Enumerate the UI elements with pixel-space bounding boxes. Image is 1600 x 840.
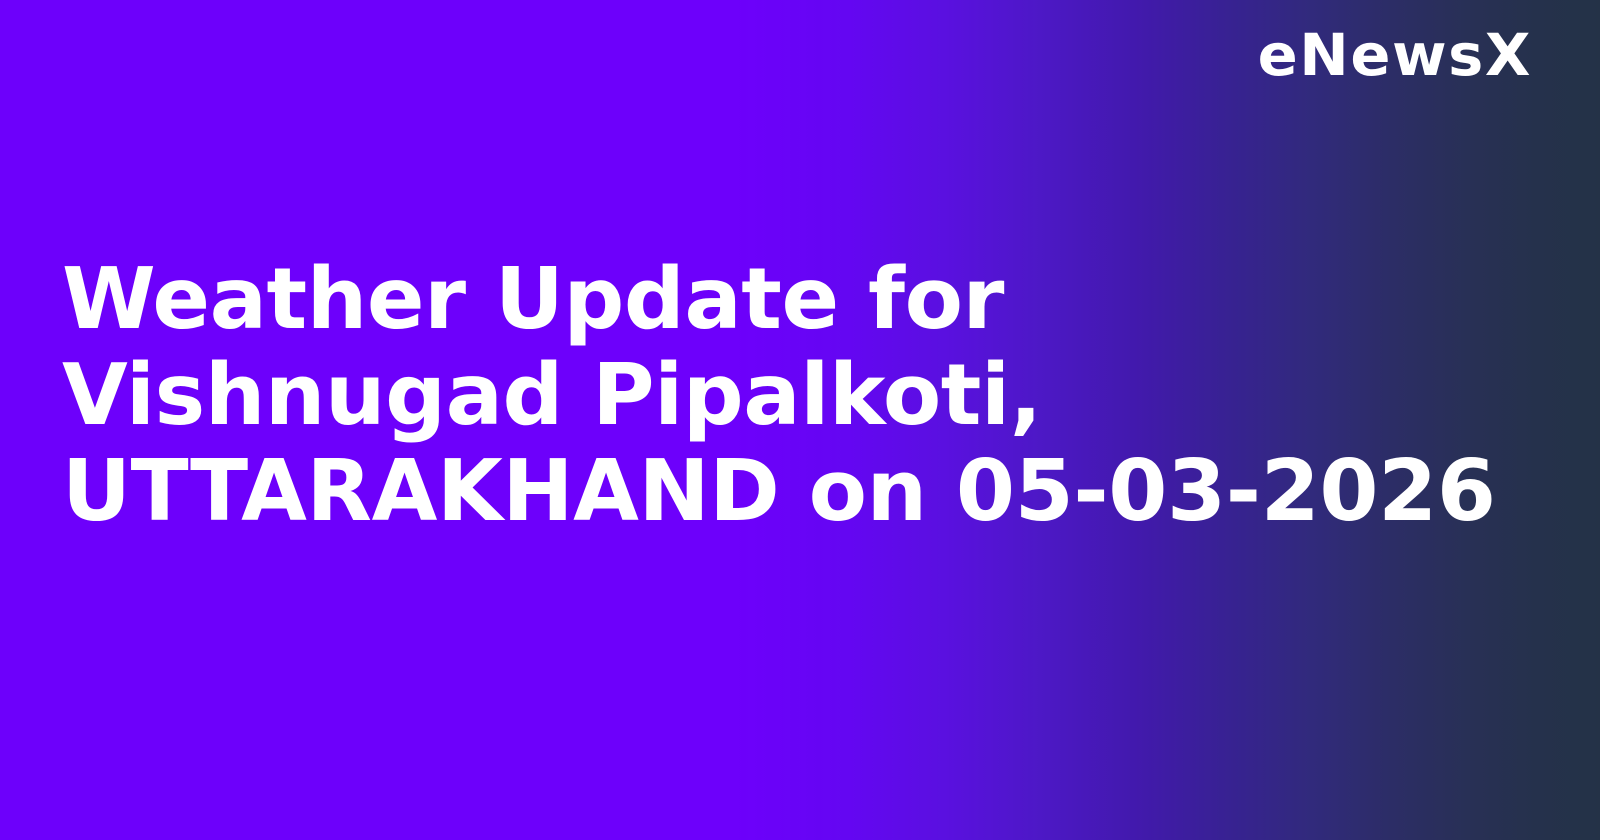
page-title: Weather Update for Vishnugad Pipalkoti, … [62, 252, 1532, 540]
brand-logo: eNewsX [1258, 26, 1532, 84]
news-banner: eNewsX Weather Update for Vishnugad Pipa… [0, 0, 1600, 840]
headline-block: Weather Update for Vishnugad Pipalkoti, … [62, 252, 1532, 540]
